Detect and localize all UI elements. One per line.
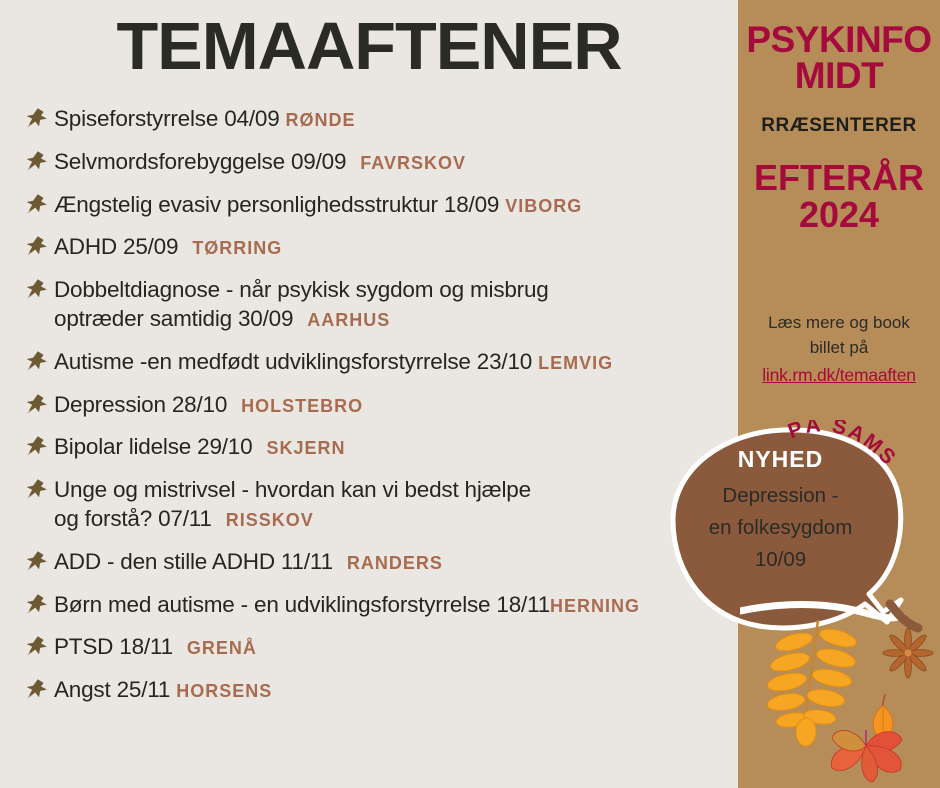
event-city: FAVRSKOV xyxy=(360,153,466,173)
booking-link[interactable]: link.rm.dk/temaaften xyxy=(748,363,930,388)
season-name: EFTERÅR xyxy=(754,157,924,198)
pushpin-icon xyxy=(24,675,54,703)
pushpin-icon xyxy=(24,347,54,375)
pushpin-icon xyxy=(24,432,54,460)
event-row[interactable]: PTSD 18/11GRENÅ xyxy=(24,632,740,662)
event-city: RISSKOV xyxy=(226,510,314,530)
event-city: GRENÅ xyxy=(187,638,257,658)
event-title-line-2: optræder samtidig 30/09AARHUS xyxy=(54,305,549,334)
bubble-text-block: NYHED Depression - en folkesygdom 10/09 xyxy=(673,446,888,575)
event-row[interactable]: Depression 28/10HOLSTEBRO xyxy=(24,390,740,420)
event-row[interactable]: Unge og mistrivsel - hvordan kan vi beds… xyxy=(24,475,740,534)
event-city: TØRRING xyxy=(192,238,282,258)
pushpin-icon xyxy=(24,275,54,303)
event-city: AARHUS xyxy=(307,310,390,330)
event-text: PTSD 18/11GRENÅ xyxy=(54,632,257,662)
event-row[interactable]: Angst 25/11HORSENS xyxy=(24,675,740,705)
event-city: HOLSTEBRO xyxy=(241,396,363,416)
event-text: Spiseforstyrrelse 04/09RØNDE xyxy=(54,104,356,134)
event-text: ADHD 25/09TØRRING xyxy=(54,232,282,262)
event-title: Spiseforstyrrelse 04/09 xyxy=(54,106,280,131)
pushpin-icon xyxy=(24,104,54,132)
event-row[interactable]: ADHD 25/09TØRRING xyxy=(24,232,740,262)
event-title: Bipolar lidelse 29/10 xyxy=(54,434,252,459)
pushpin-icon xyxy=(24,547,54,575)
event-text: Unge og mistrivsel - hvordan kan vi beds… xyxy=(54,475,531,534)
page-title: TEMAAFTENER xyxy=(0,8,745,85)
event-row[interactable]: ADD - den stille ADHD 11/11RANDERS xyxy=(24,547,740,577)
sidebar-panel: PSYKINFO MIDT RRÆSENTERER EFTERÅR 2024 L… xyxy=(738,0,940,788)
pushpin-icon xyxy=(24,632,54,660)
event-city: RANDERS xyxy=(347,553,443,573)
bubble-line-3: 10/09 xyxy=(673,544,888,576)
event-text: Depression 28/10HOLSTEBRO xyxy=(54,390,363,420)
event-city: HORSENS xyxy=(176,681,272,701)
poster-canvas: TEMAAFTENER Spiseforstyrrelse 04/09RØNDE… xyxy=(0,0,940,788)
booking-note-line-1: Læs mere og book xyxy=(768,313,910,332)
event-title-line-2: og forstå? 07/11RISSKOV xyxy=(54,505,531,534)
event-title: Selvmordsforebyggelse 09/09 xyxy=(54,149,346,174)
season-heading: EFTERÅR 2024 xyxy=(738,159,940,234)
event-title: ADHD 25/09 xyxy=(54,234,178,259)
event-title: Ængstelig evasiv personlighedsstruktur 1… xyxy=(54,192,499,217)
event-title: PTSD 18/11 xyxy=(54,634,173,659)
event-row[interactable]: Bipolar lidelse 29/10SKJERN xyxy=(24,432,740,462)
event-city: HERNING xyxy=(550,596,640,616)
brand-line-2: MIDT xyxy=(738,58,940,94)
event-row[interactable]: Spiseforstyrrelse 04/09RØNDE xyxy=(24,104,740,134)
event-title: Dobbeltdiagnose - når psykisk sygdom og … xyxy=(54,277,549,302)
event-row[interactable]: Selvmordsforebyggelse 09/09FAVRSKOV xyxy=(24,147,740,177)
event-text: Bipolar lidelse 29/10SKJERN xyxy=(54,432,345,462)
news-speech-bubble: NYHED Depression - en folkesygdom 10/09 … xyxy=(655,424,940,650)
event-text: Angst 25/11HORSENS xyxy=(54,675,272,705)
event-title: ADD - den stille ADHD 11/11 xyxy=(54,549,333,574)
event-title: Angst 25/11 xyxy=(54,677,170,702)
event-city: SKJERN xyxy=(266,438,345,458)
event-title: Depression 28/10 xyxy=(54,392,227,417)
event-row[interactable]: Dobbeltdiagnose - når psykisk sygdom og … xyxy=(24,275,740,334)
bubble-line-1: Depression - xyxy=(673,480,888,512)
event-text: ADD - den stille ADHD 11/11RANDERS xyxy=(54,547,443,577)
event-text: Dobbeltdiagnose - når psykisk sygdom og … xyxy=(54,275,549,334)
brand-name: PSYKINFO MIDT xyxy=(738,22,940,95)
pushpin-icon xyxy=(24,190,54,218)
event-row[interactable]: Børn med autisme - en udviklingsforstyrr… xyxy=(24,590,740,620)
pushpin-icon xyxy=(24,390,54,418)
pushpin-icon xyxy=(24,232,54,260)
event-text: Børn med autisme - en udviklingsforstyrr… xyxy=(54,590,640,620)
presenterer-label: RRÆSENTERER xyxy=(738,115,940,137)
bubble-line-2: en folkesygdom xyxy=(673,512,888,544)
event-row[interactable]: Autisme -en medfødt udviklingsforstyrrel… xyxy=(24,347,740,377)
event-list: Spiseforstyrrelse 04/09RØNDESelvmordsfor… xyxy=(24,104,740,718)
event-row[interactable]: Ængstelig evasiv personlighedsstruktur 1… xyxy=(24,190,740,220)
event-text: Ængstelig evasiv personlighedsstruktur 1… xyxy=(54,190,582,220)
brand-line-1: PSYKINFO xyxy=(746,19,931,60)
bubble-body: Depression - en folkesygdom 10/09 xyxy=(673,480,888,575)
event-title: Unge og mistrivsel - hvordan kan vi beds… xyxy=(54,477,531,502)
booking-note: Læs mere og book billet på link.rm.dk/te… xyxy=(738,311,940,388)
event-title: Autisme -en medfødt udviklingsforstyrrel… xyxy=(54,349,532,374)
event-title: Børn med autisme - en udviklingsforstyrr… xyxy=(54,592,550,617)
season-year: 2024 xyxy=(738,196,940,233)
event-city: VIBORG xyxy=(505,196,582,216)
news-badge: NYHED xyxy=(673,446,888,473)
event-city: LEMVIG xyxy=(538,353,613,373)
pushpin-icon xyxy=(24,590,54,618)
event-text: Autisme -en medfødt udviklingsforstyrrel… xyxy=(54,347,613,377)
pushpin-icon xyxy=(24,475,54,503)
event-city: RØNDE xyxy=(286,110,356,130)
booking-note-line-2: billet på xyxy=(810,338,869,357)
pushpin-icon xyxy=(24,147,54,175)
event-text: Selvmordsforebyggelse 09/09FAVRSKOV xyxy=(54,147,466,177)
